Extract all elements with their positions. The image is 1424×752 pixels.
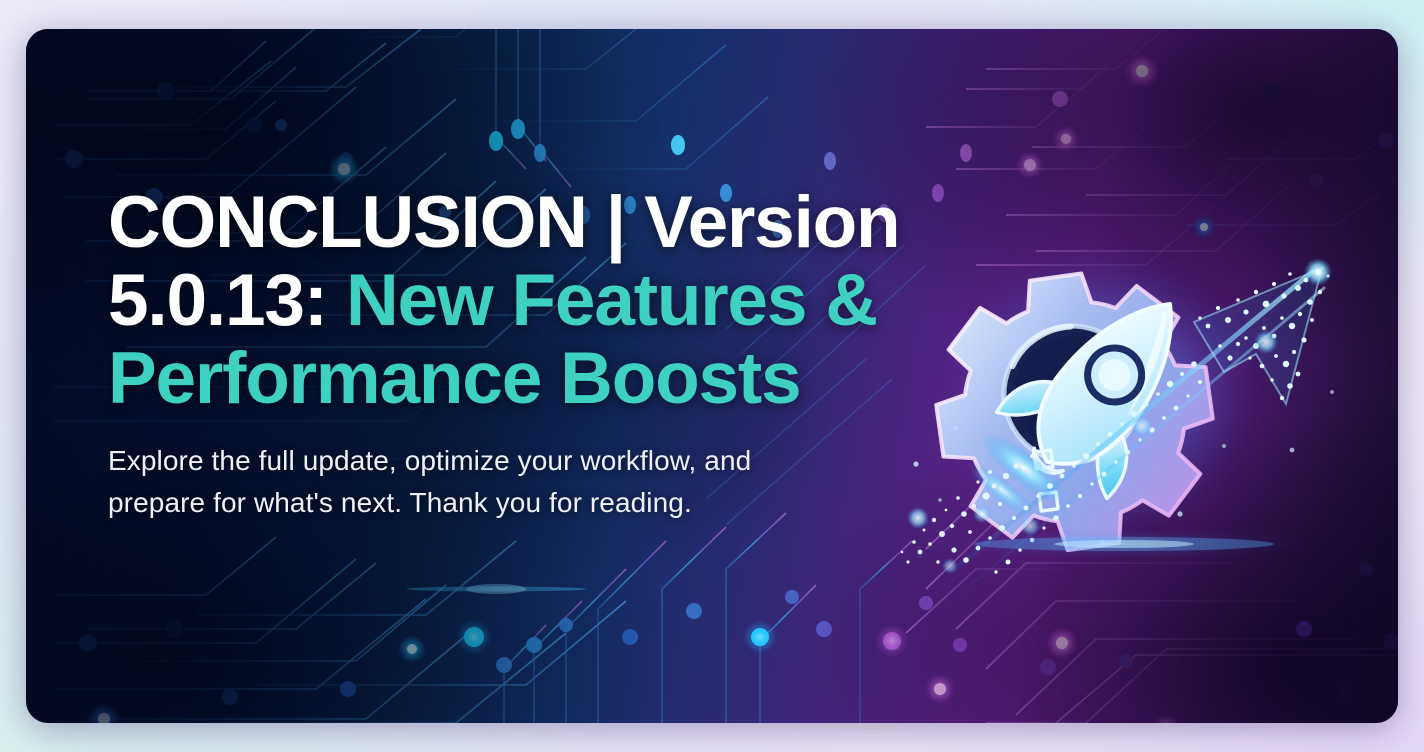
headline-accent-line-2: New Features &: [346, 260, 877, 341]
illustration-svg: [894, 214, 1374, 594]
headline-version: 5.0.13:: [108, 260, 346, 341]
subtitle: Explore the full update, optimize your w…: [108, 440, 908, 524]
banner-frame: CONCLUSION | Version 5.0.13: New Feature…: [0, 0, 1424, 752]
headline-accent-line-3: Performance Boosts: [108, 338, 800, 419]
banner-card: CONCLUSION | Version 5.0.13: New Feature…: [26, 29, 1398, 723]
text-block: CONCLUSION | Version 5.0.13: New Feature…: [108, 184, 908, 524]
page-title: CONCLUSION | Version 5.0.13: New Feature…: [108, 184, 908, 418]
subtitle-line-2: prepare for what's next. Thank you for r…: [108, 487, 692, 518]
rocket-gear-illustration: [894, 214, 1374, 594]
subtitle-line-1: Explore the full update, optimize your w…: [108, 445, 751, 476]
headline-line-1: CONCLUSION | Version: [108, 182, 899, 263]
